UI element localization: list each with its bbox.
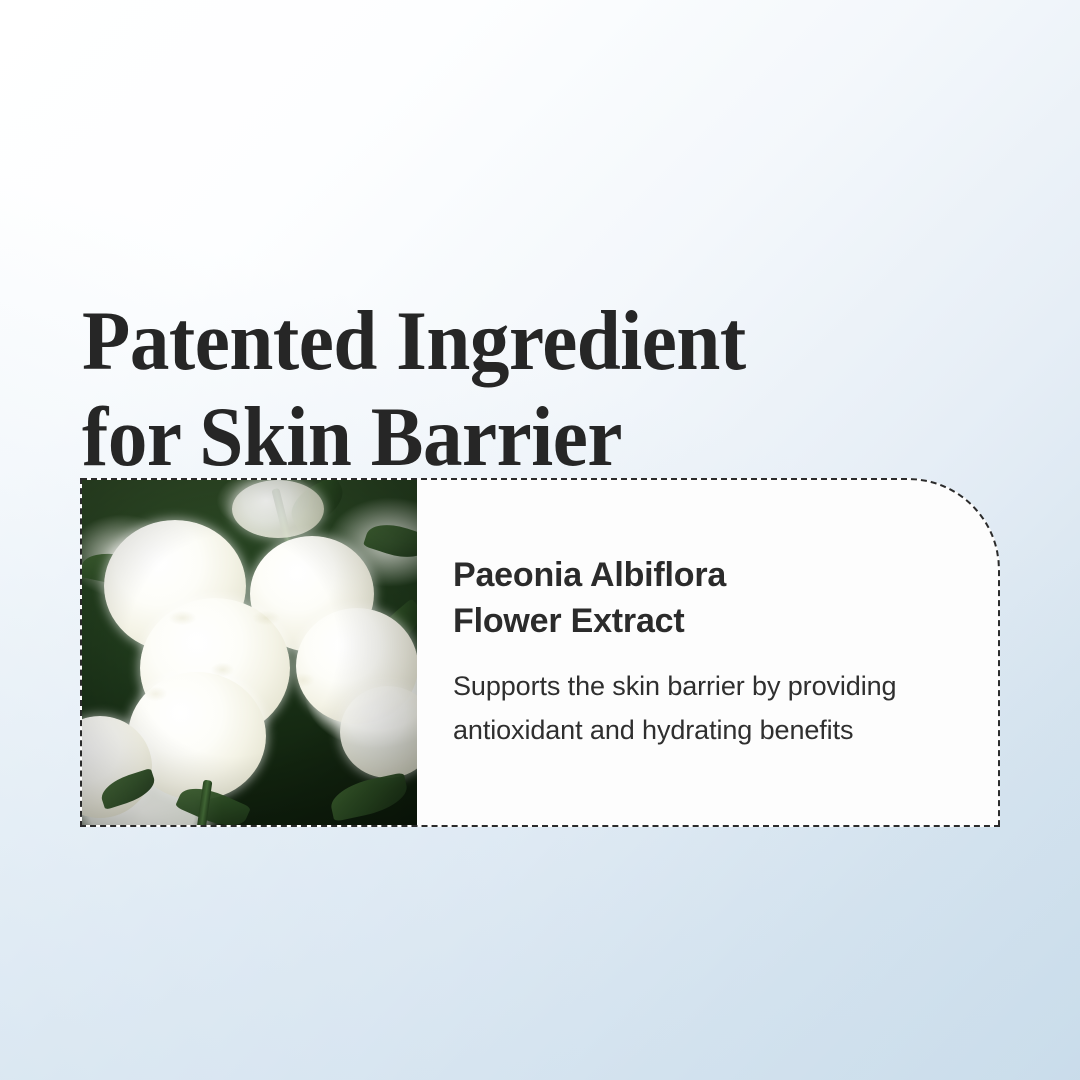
ingredient-text-column: Paeonia Albiflora Flower Extract Support… [417,480,998,825]
photo-vignette [82,480,417,825]
flower-photo [82,480,417,825]
ingredient-name-line-2: Flower Extract [453,598,958,644]
ingredient-card: Paeonia Albiflora Flower Extract Support… [80,478,1000,827]
ingredient-description: Supports the skin barrier by providing a… [453,664,958,752]
page-title: Patented Ingredient for Skin Barrier [82,293,962,485]
ingredient-promo-page: Patented Ingredient for Skin Barrier [0,0,1080,1080]
page-title-line-1: Patented Ingredient [82,293,900,389]
ingredient-description-line-2: antioxidant and hydrating benefits [453,708,958,752]
ingredient-description-line-1: Supports the skin barrier by providing [453,664,958,708]
ingredient-name-line-1: Paeonia Albiflora [453,552,958,598]
page-title-line-2: for Skin Barrier [82,389,900,485]
ingredient-name: Paeonia Albiflora Flower Extract [453,552,958,644]
